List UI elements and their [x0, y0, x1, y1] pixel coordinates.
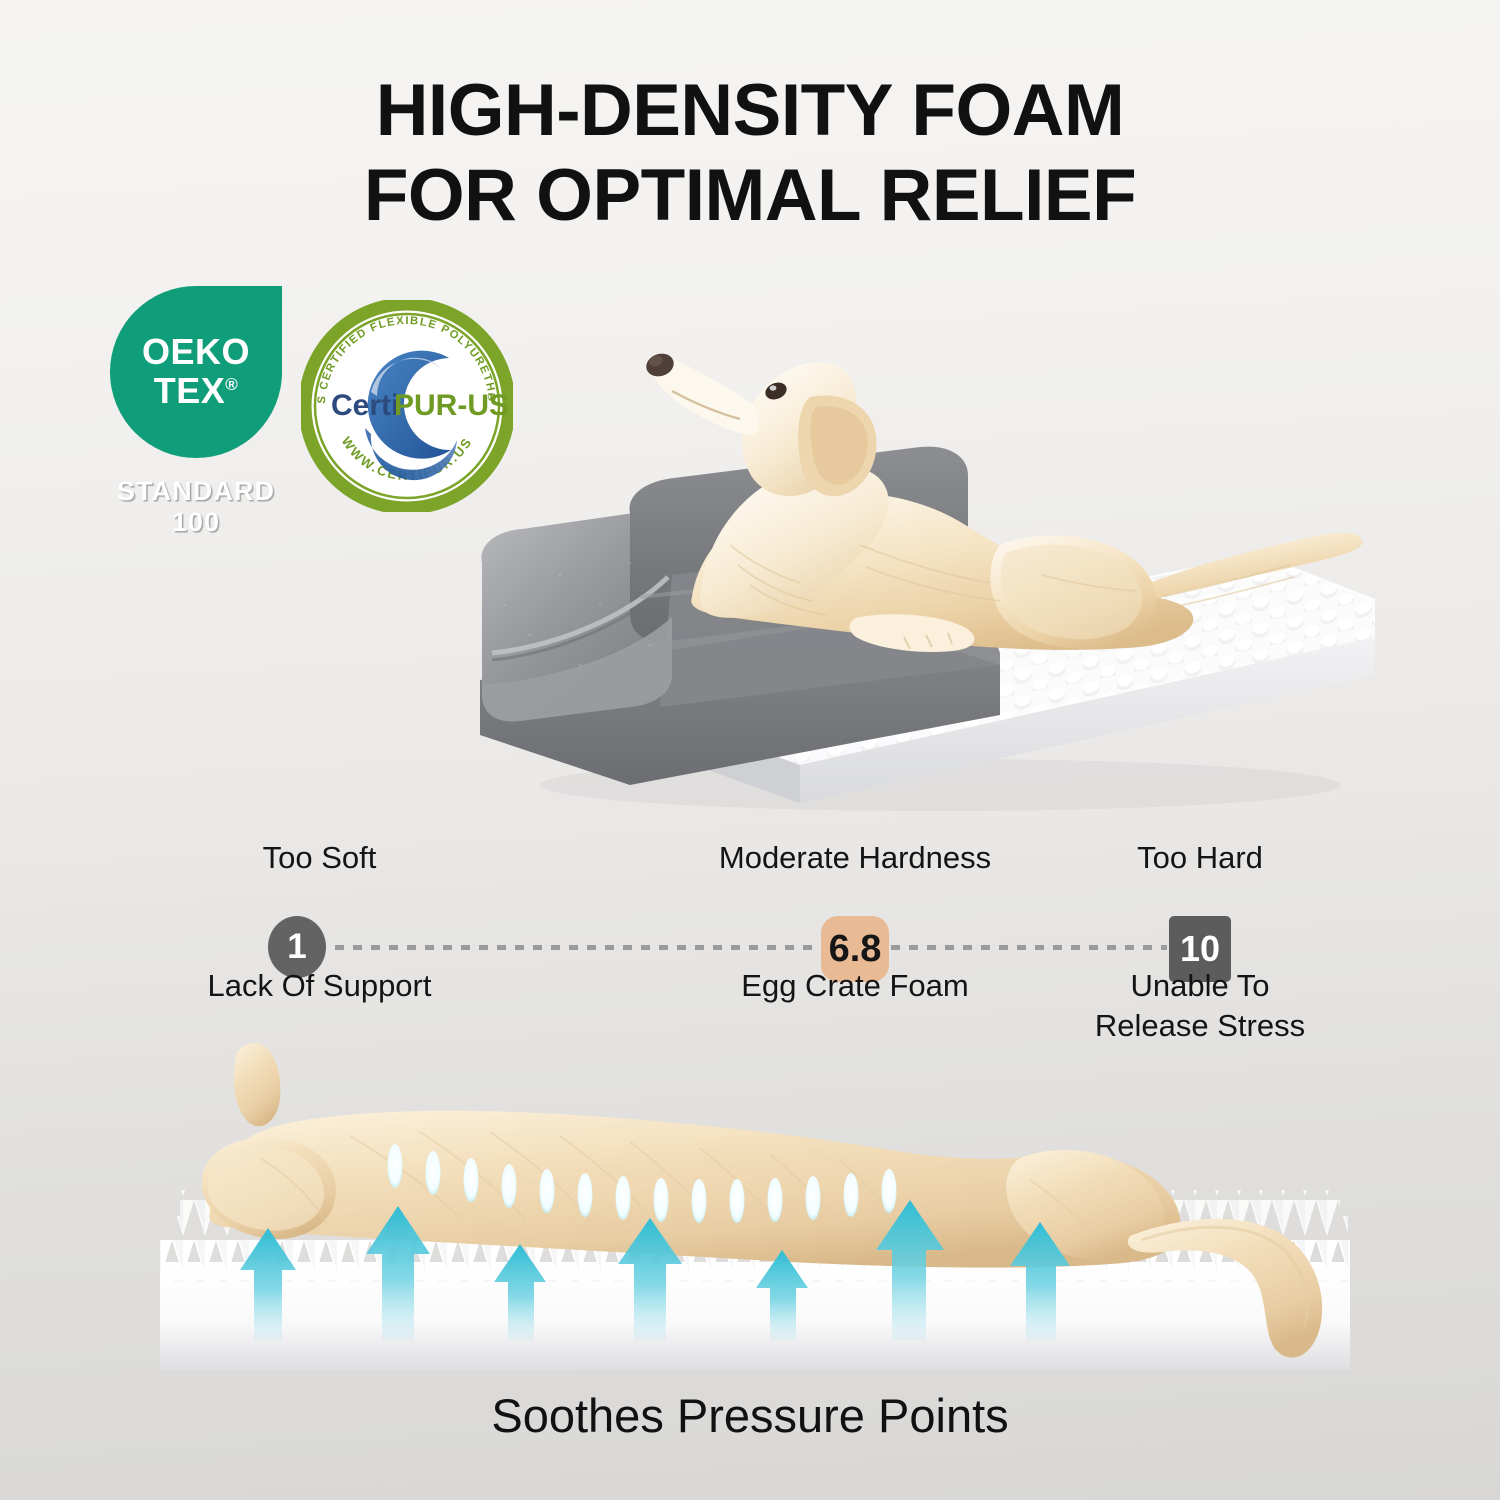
- infographic-page: HIGH-DENSITY FOAM FOR OPTIMAL RELIEF OEK…: [0, 0, 1500, 1500]
- hardness-desc-egg-crate-foam: Egg Crate Foam: [741, 966, 968, 1006]
- hardness-dash-right: [891, 945, 1167, 950]
- headline-line-2: FOR OPTIMAL RELIEF: [0, 153, 1500, 238]
- hardness-label-too-soft: Too Soft: [263, 838, 377, 878]
- page-title: HIGH-DENSITY FOAM FOR OPTIMAL RELIEF: [0, 68, 1500, 239]
- hardness-label-too-hard: Too Hard: [1137, 838, 1263, 878]
- oeko-tex-badge: OEKO TEX® STANDARD 100: [106, 286, 286, 538]
- caption-soothes-pressure-points: Soothes Pressure Points: [0, 1390, 1500, 1442]
- oeko-tex-line-1: OEKO: [142, 334, 250, 371]
- hardness-desc-lack-of-support: Lack Of Support: [207, 966, 431, 1006]
- headline-line-1: HIGH-DENSITY FOAM: [376, 70, 1125, 151]
- hardness-scale: Too Soft Moderate Hardness Too Hard 1 6.…: [0, 838, 1500, 1048]
- oeko-tex-droplet-icon: OEKO TEX®: [110, 286, 282, 458]
- hardness-dash-left: [335, 945, 823, 950]
- pressure-relief-photo: [150, 1040, 1360, 1380]
- hardness-label-moderate: Moderate Hardness: [719, 838, 991, 878]
- registered-mark: ®: [225, 375, 238, 394]
- hardness-desc-unable-to-release-stress: Unable To Release Stress: [1095, 966, 1305, 1045]
- oeko-tex-standard-label: STANDARD 100: [106, 476, 286, 538]
- product-photo: [300, 245, 1400, 820]
- oeko-tex-line-2: TEX®: [154, 372, 239, 410]
- product-photo-illustration: [300, 245, 1400, 820]
